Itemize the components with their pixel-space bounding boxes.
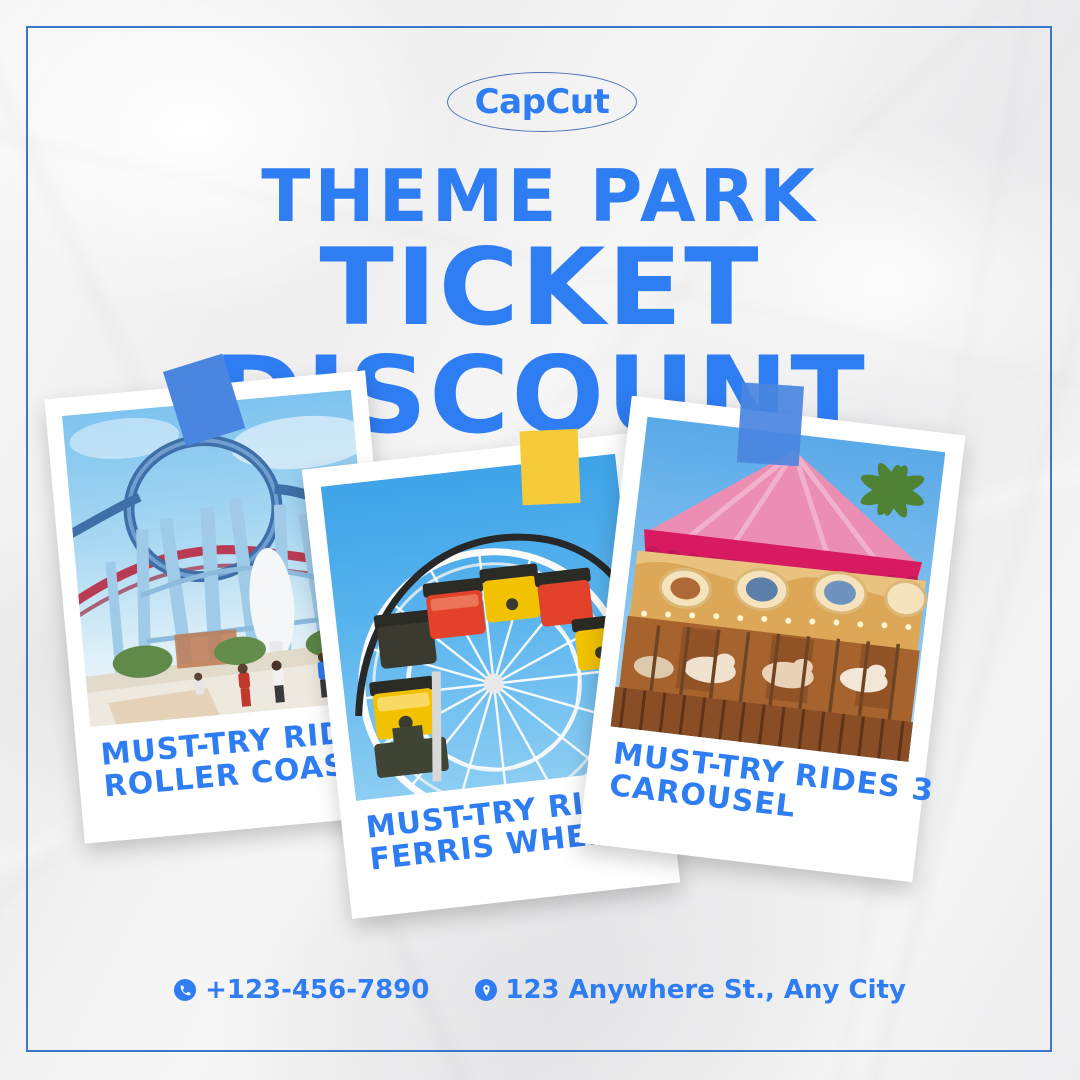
title-line-1: THEME PARK — [0, 160, 1080, 232]
tape-yellow-2 — [520, 429, 581, 505]
poster-canvas: CapCut THEME PARK TICKET DISCOUNT — [0, 0, 1080, 1080]
tape-blue-3 — [737, 382, 804, 466]
contact-phone[interactable]: +123-456-7890 — [174, 975, 429, 1005]
phone-number: +123-456-7890 — [205, 975, 429, 1005]
contact-address[interactable]: 123 Anywhere St., Any City — [475, 975, 906, 1005]
footer-contact-bar: +123-456-7890 123 Anywhere St., Any City — [0, 975, 1080, 1005]
capcut-logo: CapCut — [447, 72, 637, 132]
photo-carousel — [611, 417, 946, 762]
location-pin-icon — [475, 979, 497, 1001]
card-carousel[interactable]: MUST-TRY RIDES 3 CAROUSEL — [579, 396, 966, 883]
phone-icon — [174, 979, 196, 1001]
address-text: 123 Anywhere St., Any City — [505, 975, 906, 1005]
logo-text: CapCut — [447, 72, 637, 132]
